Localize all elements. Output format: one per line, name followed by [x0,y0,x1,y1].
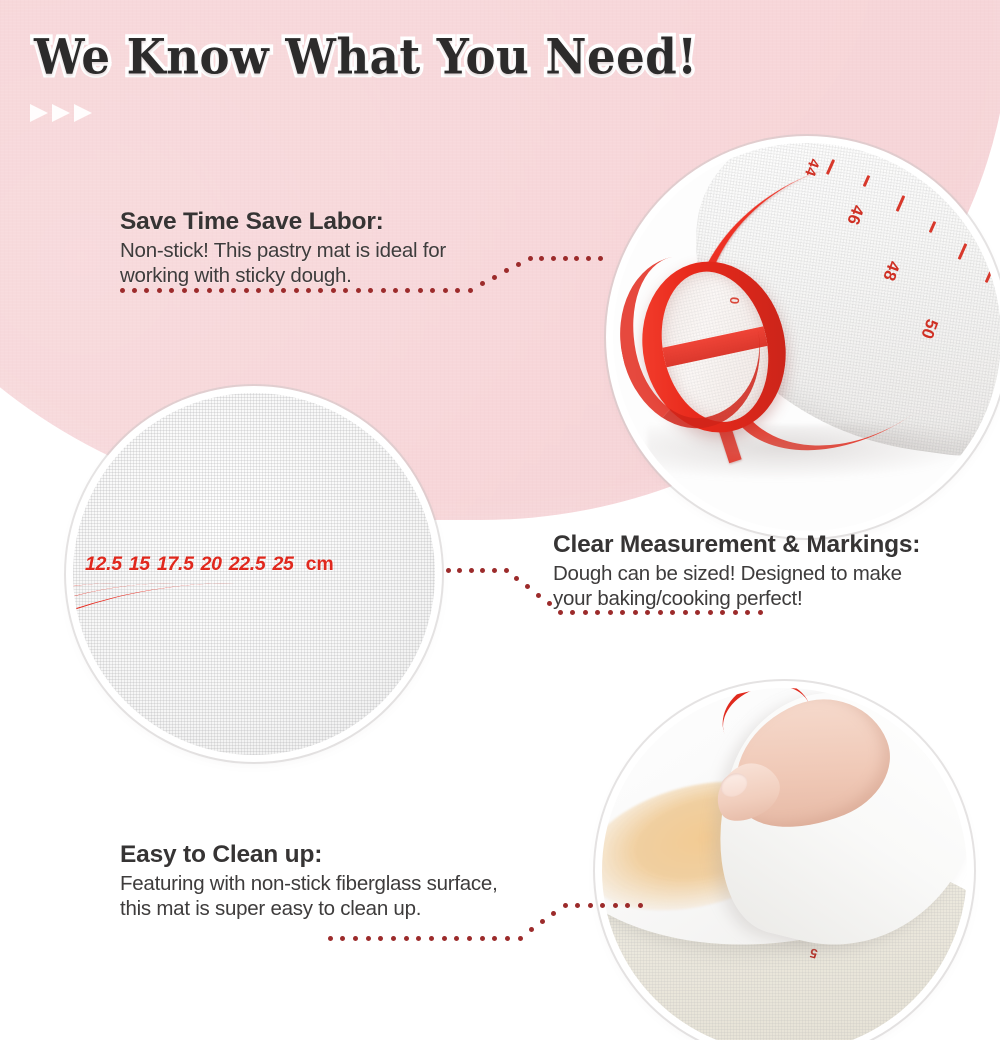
connector-dot [625,903,630,908]
connector-dot [745,610,750,615]
connector-dot [378,936,383,941]
connector-dot [393,288,398,293]
connector-dot [504,568,509,573]
connector-dot [570,610,575,615]
connector-dot [551,911,556,916]
connector-dot [418,288,423,293]
connector-dot [182,288,187,293]
connector-dot [480,936,485,941]
connector-dot [169,288,174,293]
connector-dot [558,610,563,615]
connector-dot [340,936,345,941]
connector-dot [457,568,462,573]
connector-dot [306,288,311,293]
rolled-mat-photo: 44 46 48 50 0 [613,143,1000,531]
feature-title: Easy to Clean up: [120,841,498,869]
connector-dot [633,610,638,615]
chevron-right-icon [74,104,92,122]
connector-dot [469,568,474,573]
feature-block-easy-clean: Easy to Clean up: Featuring with non-sti… [120,841,498,921]
connector-dot [518,936,523,941]
measurement-label: 17.5 [157,553,194,576]
connector-dot [331,288,336,293]
connector-dot [540,919,545,924]
photo-circle-measurement-markings: 12.5 15 17.5 20 22.5 25 cm [73,393,435,755]
connector-dot [600,903,605,908]
connector-dot [733,610,738,615]
measurement-labels: 12.5 15 17.5 20 22.5 25 cm [85,553,425,576]
connector-dot [269,288,274,293]
connector-dot [404,936,409,941]
connector-dot [645,610,650,615]
connector-dot [144,288,149,293]
connector-dot [443,288,448,293]
connector-dot [353,936,358,941]
connector-dot [328,936,333,941]
connector-dot [194,288,199,293]
connector-dot [480,568,485,573]
feature-body-line: this mat is super easy to clean up. [120,896,498,921]
measurement-label: 20 [201,553,222,576]
connector-dot [758,610,763,615]
connector-dot [231,288,236,293]
connector-dot [563,903,568,908]
connector-dot [670,610,675,615]
measurement-label: 12.5 [85,553,122,576]
connector-dot [613,903,618,908]
connector-dot [608,610,613,615]
connector-dot [429,936,434,941]
connector-dot [343,288,348,293]
connector-dot [356,288,361,293]
connector-dot [586,256,591,261]
connector-dot [446,568,451,573]
connector-dot [620,610,625,615]
connector-dot [658,610,663,615]
page-title: We Know What You Need! [34,28,698,85]
connector-dot [467,936,472,941]
connector-dot [244,288,249,293]
connector-dot [529,927,534,932]
connector-dot [505,936,510,941]
connector-dot [720,610,725,615]
connector-dot [539,256,544,261]
connector-dot [583,610,588,615]
product-feature-infographic: We Know What You Need! 44 46 [0,0,1000,1040]
peeling-dough-photo: 5 [602,688,967,1040]
measurement-mat-photo: 12.5 15 17.5 20 22.5 25 cm [73,393,435,755]
connector-dot [528,256,533,261]
connector-dot [588,903,593,908]
connector-dot [492,936,497,941]
ruler-zero-label: 0 [727,296,742,304]
measurement-label: 15 [129,553,150,576]
connector-dot [120,288,125,293]
measurement-label: 22.5 [229,553,266,576]
connector-dot [442,936,447,941]
connector-dot [683,610,688,615]
connector-dot [157,288,162,293]
connector-dot [514,576,519,581]
connector-dot [551,256,556,261]
connector-dot [366,936,371,941]
feature-body-line: Dough can be sized! Designed to make [553,561,920,586]
connector-dot [207,288,212,293]
feature-body-line: your baking/cooking perfect! [553,586,920,611]
connector-dot [468,288,473,293]
connector-dot [219,288,224,293]
measurement-unit: cm [306,553,334,576]
connector-dot [281,288,286,293]
connector-dot [480,281,485,286]
photo-circle-rolled-mat: 44 46 48 50 0 [613,143,1000,531]
connector-dot [381,288,386,293]
connector-dot [454,936,459,941]
connector-dot [575,903,580,908]
connector-dot [132,288,137,293]
feature-body-line: working with sticky dough. [120,263,446,288]
connector-dot [455,288,460,293]
feature-body-line: Non-stick! This pastry mat is ideal for [120,238,446,263]
connector-dot [391,936,396,941]
chevron-right-icon [52,104,70,122]
feature-body-line: Featuring with non-stick fiberglass surf… [120,871,498,896]
feature-title: Clear Measurement & Markings: [553,531,920,559]
feature-block-save-time: Save Time Save Labor: Non-stick! This pa… [120,208,446,288]
measurement-label: 25 [272,553,293,576]
connector-dot [430,288,435,293]
connector-dot [256,288,261,293]
connector-dot [595,610,600,615]
connector-dot [695,610,700,615]
connector-dot [492,568,497,573]
connector-dot [536,593,541,598]
connector-dot [504,268,509,273]
connector-dot [525,584,530,589]
connector-dot [708,610,713,615]
drop-shadow [647,425,977,481]
connector-dot [638,903,643,908]
photo-circle-easy-clean: 5 [602,688,967,1040]
connector-dot [416,936,421,941]
connector-dot [318,288,323,293]
connector-dot [547,601,552,606]
feature-title: Save Time Save Labor: [120,208,446,236]
connector-dot [294,288,299,293]
connector-dot [516,262,521,267]
chevron-right-icon [30,104,48,122]
feature-block-clear-measurement: Clear Measurement & Markings: Dough can … [553,531,920,611]
connector-dot [598,256,603,261]
connector-dot [492,275,497,280]
connector-dot [368,288,373,293]
connector-dot [563,256,568,261]
connector-dot [405,288,410,293]
chevron-arrows [30,104,92,122]
connector-dot [574,256,579,261]
